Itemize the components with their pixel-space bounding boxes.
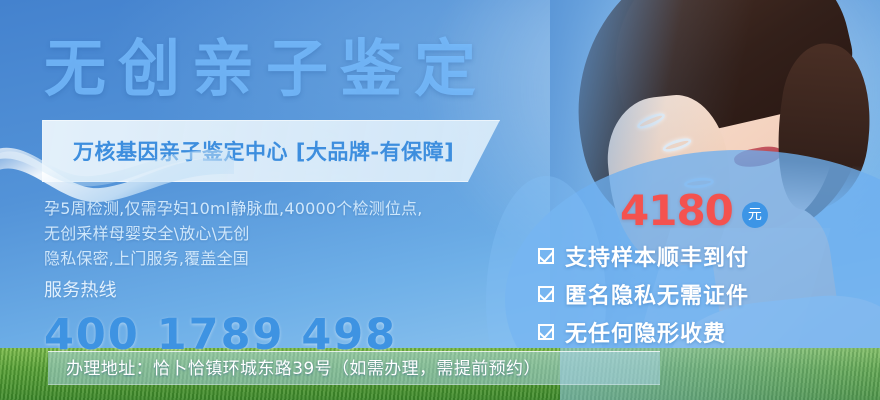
checkbox-checked-icon <box>538 248 554 264</box>
address-bar: 办理地址：恰卜恰镇环城东路39号（如需办理，需提前预约） <box>48 351 660 385</box>
feature-item-2: 匿名隐私无需证件 <box>538 276 749 312</box>
feature-label-1: 支持样本顺丰到付 <box>565 240 749 272</box>
subtitle-bar: 万核基因亲子鉴定中心 [大品牌-有保障] <box>42 120 500 182</box>
body-copy: 孕5周检测,仅需孕妇10ml静脉血,40000个检测位点, 无创采样母婴安全\放… <box>44 196 423 303</box>
page-title: 无创亲子鉴定 <box>44 18 488 108</box>
body-line-3: 隐私保密,上门服务,覆盖全国 <box>44 246 423 271</box>
address-text: 办理地址：恰卜恰镇环城东路39号（如需办理，需提前预约） <box>66 352 541 386</box>
feature-item-3: 无任何隐形收费 <box>538 314 749 350</box>
subtitle-text: 万核基因亲子鉴定中心 [大品牌-有保障] <box>73 121 454 182</box>
feature-label-2: 匿名隐私无需证件 <box>565 278 749 310</box>
feature-list: 支持样本顺丰到付 匿名隐私无需证件 无任何隐形收费 <box>538 238 749 352</box>
hotline-label: 服务热线 <box>44 278 423 303</box>
checkbox-checked-icon <box>538 286 554 302</box>
body-line-2: 无创采样母婴安全\放心\无创 <box>44 221 423 246</box>
price-value: 4180 <box>620 190 733 232</box>
feature-item-1: 支持样本顺丰到付 <box>538 238 749 274</box>
price-block: 4180 元 <box>620 190 768 232</box>
body-line-1: 孕5周检测,仅需孕妇10ml静脉血,40000个检测位点, <box>44 196 423 221</box>
checkbox-checked-icon <box>538 324 554 340</box>
price-unit-badge: 元 <box>742 202 768 228</box>
feature-label-3: 无任何隐形收费 <box>565 316 726 348</box>
ad-banner: 无创亲子鉴定 万核基因亲子鉴定中心 [大品牌-有保障] 孕5周检测,仅需孕妇10… <box>0 0 880 400</box>
